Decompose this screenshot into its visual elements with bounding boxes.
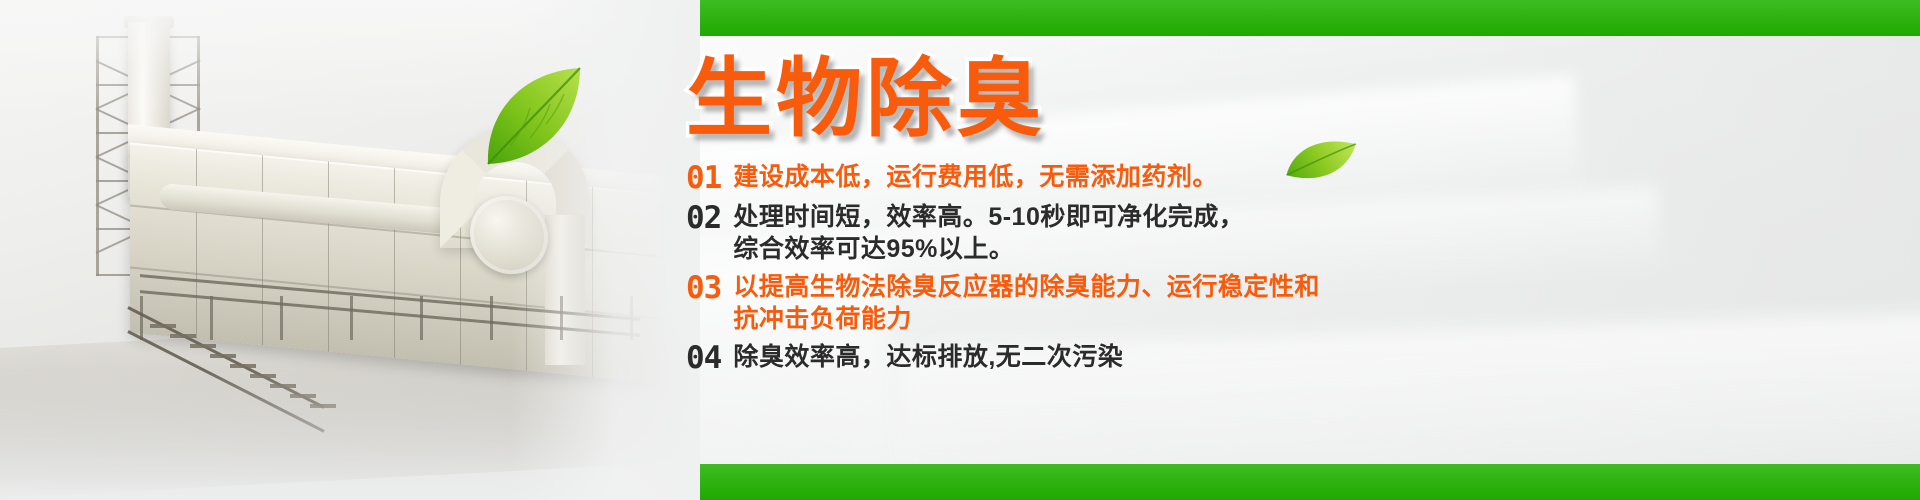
feature-number: 03 xyxy=(686,272,721,305)
feature-item: 04除臭效率高，达标排放,无二次污染 xyxy=(686,342,1920,375)
feature-text-line: 抗冲击负荷能力 xyxy=(733,304,1320,336)
feature-item: 02处理时间短，效率高。5-10秒即可净化完成，综合效率可达95%以上。 xyxy=(686,202,1920,265)
feature-number: 04 xyxy=(686,342,721,375)
feature-text: 以提高生物法除臭反应器的除臭能力、运行稳定性和抗冲击负荷能力 xyxy=(733,272,1320,335)
feature-text: 建设成本低，运行费用低，无需添加药剂。 xyxy=(733,162,1218,194)
content-column: 生物除臭 01建设成本低，运行费用低，无需添加药剂。02处理时间短，效率高。5-… xyxy=(686,0,1920,500)
feature-number: 02 xyxy=(686,202,721,235)
page-title: 生物除臭 xyxy=(686,56,1046,142)
equipment-photo xyxy=(0,0,700,500)
feature-item: 01建设成本低，运行费用低，无需添加药剂。 xyxy=(686,162,1920,195)
feature-text: 除臭效率高，达标排放,无二次污染 xyxy=(733,342,1123,374)
feature-list: 01建设成本低，运行费用低，无需添加药剂。02处理时间短，效率高。5-10秒即可… xyxy=(686,162,1920,383)
feature-text-line: 建设成本低，运行费用低，无需添加药剂。 xyxy=(733,163,1218,191)
feature-text-line: 处理时间短，效率高。5-10秒即可净化完成， xyxy=(733,203,1244,231)
promo-banner: 生物除臭 01建设成本低，运行费用低，无需添加药剂。02处理时间短，效率高。5-… xyxy=(0,0,1920,500)
feature-text: 处理时间短，效率高。5-10秒即可净化完成，综合效率可达95%以上。 xyxy=(733,202,1244,265)
feature-text-line: 以提高生物法除臭反应器的除臭能力、运行稳定性和 xyxy=(733,273,1320,301)
feature-item: 03以提高生物法除臭反应器的除臭能力、运行稳定性和抗冲击负荷能力 xyxy=(686,272,1920,335)
feature-number: 01 xyxy=(686,162,721,195)
feature-text-line: 综合效率可达95%以上。 xyxy=(733,234,1244,266)
feature-text-line: 除臭效率高，达标排放,无二次污染 xyxy=(733,343,1123,371)
leaf-icon xyxy=(480,62,590,172)
